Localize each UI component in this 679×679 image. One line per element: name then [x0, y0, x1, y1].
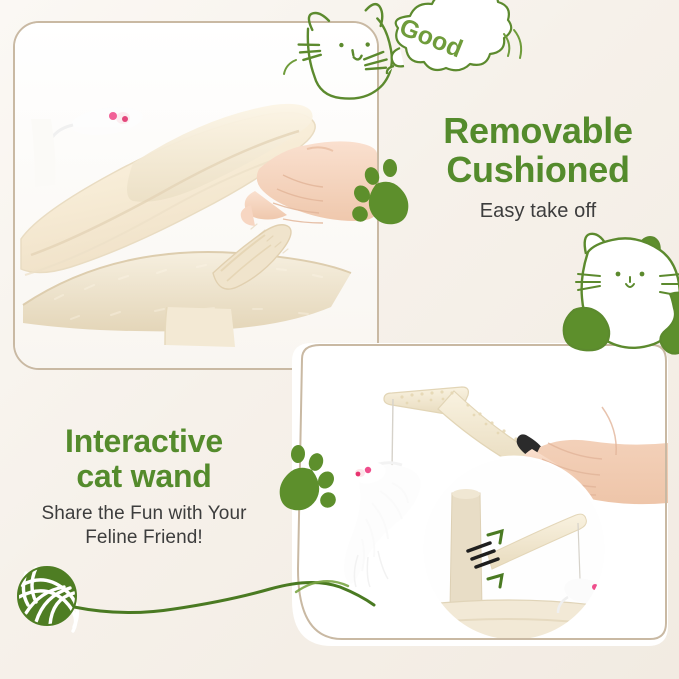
wand-string — [392, 399, 393, 471]
removable-cushion-photo — [15, 23, 377, 368]
cat-wand-panel — [292, 343, 668, 666]
headline-left-subtitle-line1: Share the Fun with Your — [8, 502, 280, 526]
headline-right-subtitle: Easy take off — [404, 200, 672, 223]
headline-left-line2: cat wand — [8, 459, 280, 494]
removable-cushioned-headline: Removable Cushioned Easy take off — [404, 112, 672, 223]
product-feature-graphic: Removable Cushioned Easy take off Intera… — [0, 0, 679, 679]
removable-cushion-panel — [13, 21, 379, 370]
interactive-cat-wand-headline: Interactive cat wand Share the Fun with … — [8, 424, 280, 550]
sitting-cat-doodle — [564, 234, 679, 354]
headline-right-line2: Cushioned — [404, 151, 672, 190]
headline-right-line1: Removable — [404, 112, 672, 151]
cat-wand-photo — [292, 343, 668, 666]
headline-left-line1: Interactive — [8, 424, 280, 459]
speech-bubble-text: Good — [395, 13, 466, 64]
headline-left-subtitle-line2: Feline Friend! — [8, 526, 280, 550]
yarn-ball-doodle — [18, 567, 77, 631]
